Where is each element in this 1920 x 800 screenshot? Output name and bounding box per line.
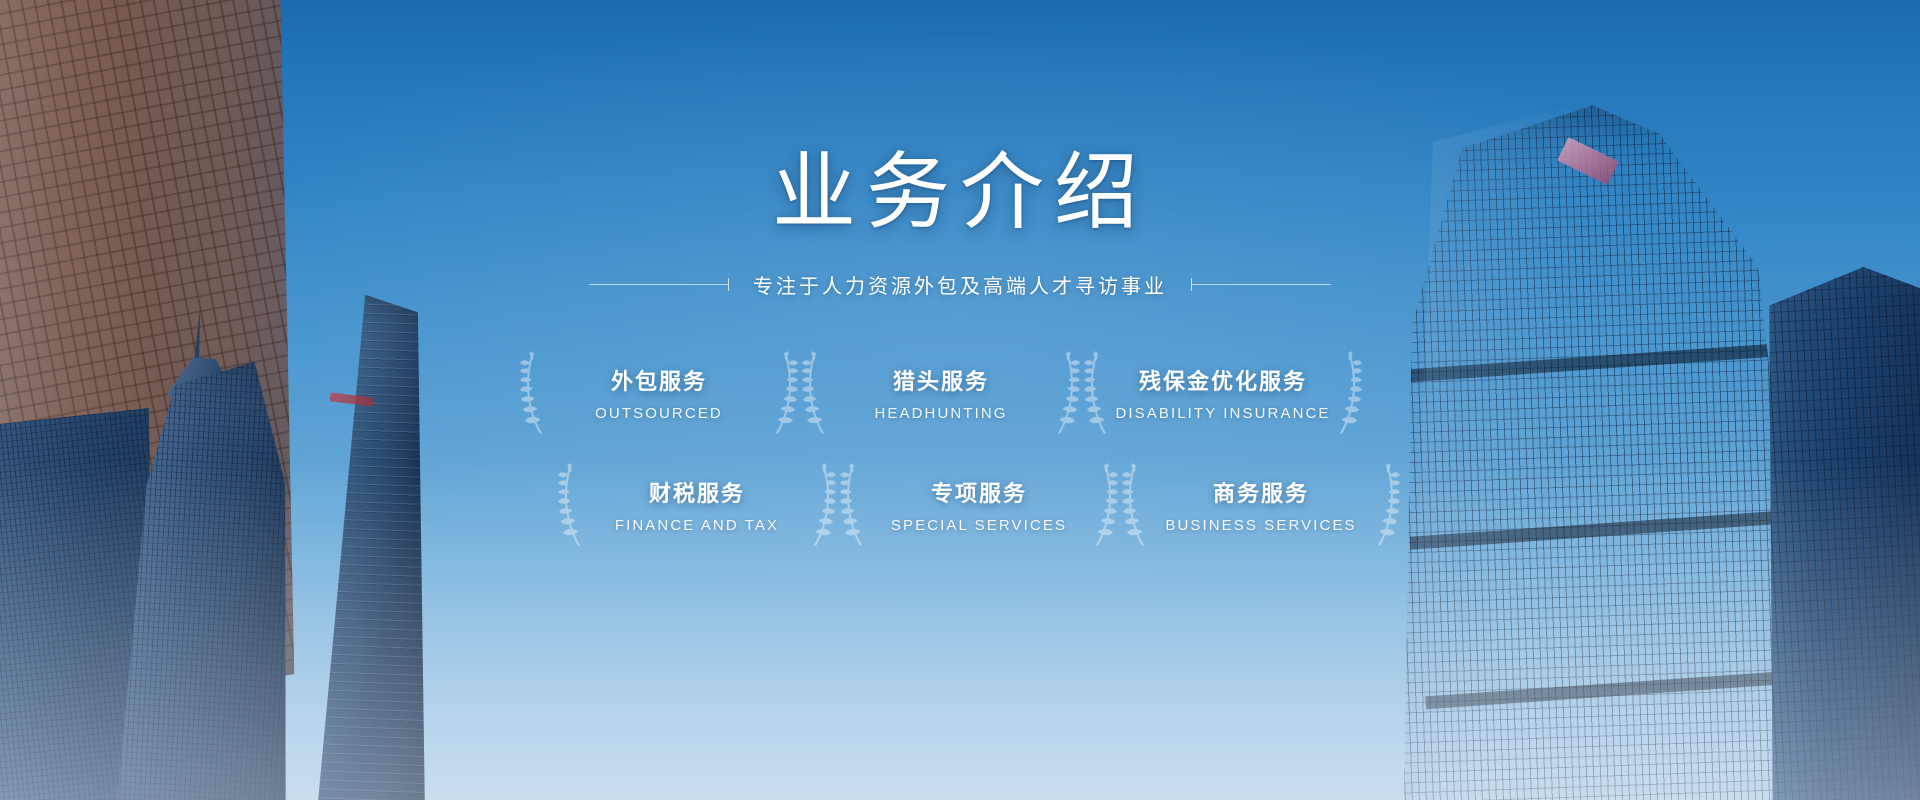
service-name-en: FINANCE AND TAX (615, 517, 779, 534)
laurel-branch-icon (1088, 462, 1122, 548)
service-item-finance-and-tax[interactable]: 财税服务 FINANCE AND TAX (556, 459, 838, 551)
facade-bands (291, 293, 449, 800)
service-name-en: OUTSOURCED (595, 405, 723, 422)
service-name-cn: 残保金优化服务 (1139, 364, 1307, 396)
service-item-disability-insurance[interactable]: 残保金优化服务 DISABILITY INSURANCE (1082, 347, 1364, 439)
service-name-en: DISABILITY INSURANCE (1115, 405, 1330, 422)
building-shanghai-tower (291, 293, 449, 800)
laurel-branch-icon (1118, 462, 1152, 548)
service-item-headhunting[interactable]: 猎头服务 HEADHUNTING (800, 347, 1082, 439)
service-item-special-services[interactable]: 专项服务 SPECIAL SERVICES (838, 459, 1120, 551)
laurel-branch-icon (768, 350, 802, 436)
laurel-branch-icon (806, 462, 840, 548)
services-row-1: 外包服务 OUTSOURCED (518, 347, 1402, 439)
page-subtitle: 专注于人力资源外包及高端人才寻访事业 (729, 270, 1191, 299)
laurel-branch-icon (1050, 350, 1084, 436)
laurel-branch-icon (798, 350, 832, 436)
services-row-2: 财税服务 FINANCE AND TAX (556, 459, 1402, 551)
subtitle-row: 专注于人力资源外包及高端人才寻访事业 (589, 270, 1331, 299)
rule-left-icon (589, 284, 729, 285)
laurel-branch-icon (554, 462, 588, 548)
laurel-branch-icon (1080, 350, 1114, 436)
service-item-outsourced[interactable]: 外包服务 OUTSOURCED (518, 347, 800, 439)
laurel-branch-icon (836, 462, 870, 548)
rule-right-icon (1191, 284, 1331, 285)
service-name-cn: 财税服务 (649, 476, 745, 508)
laurel-branch-icon (1332, 350, 1366, 436)
service-name-cn: 专项服务 (931, 476, 1027, 508)
hero-banner: 业务介绍 专注于人力资源外包及高端人才寻访事业 (0, 0, 1920, 800)
service-name-en: SPECIAL SERVICES (891, 517, 1067, 534)
service-name-cn: 外包服务 (611, 364, 707, 396)
laurel-branch-icon (516, 350, 550, 436)
services-grid: 外包服务 OUTSOURCED (518, 347, 1402, 551)
service-name-cn: 猎头服务 (893, 364, 989, 396)
service-item-business-services[interactable]: 商务服务 BUSINESS SERVICES (1120, 459, 1402, 551)
laurel-branch-icon (1370, 462, 1404, 548)
page-title: 业务介绍 (772, 150, 1148, 234)
service-name-cn: 商务服务 (1213, 476, 1309, 508)
service-name-en: BUSINESS SERVICES (1165, 517, 1356, 534)
service-name-en: HEADHUNTING (874, 405, 1007, 422)
